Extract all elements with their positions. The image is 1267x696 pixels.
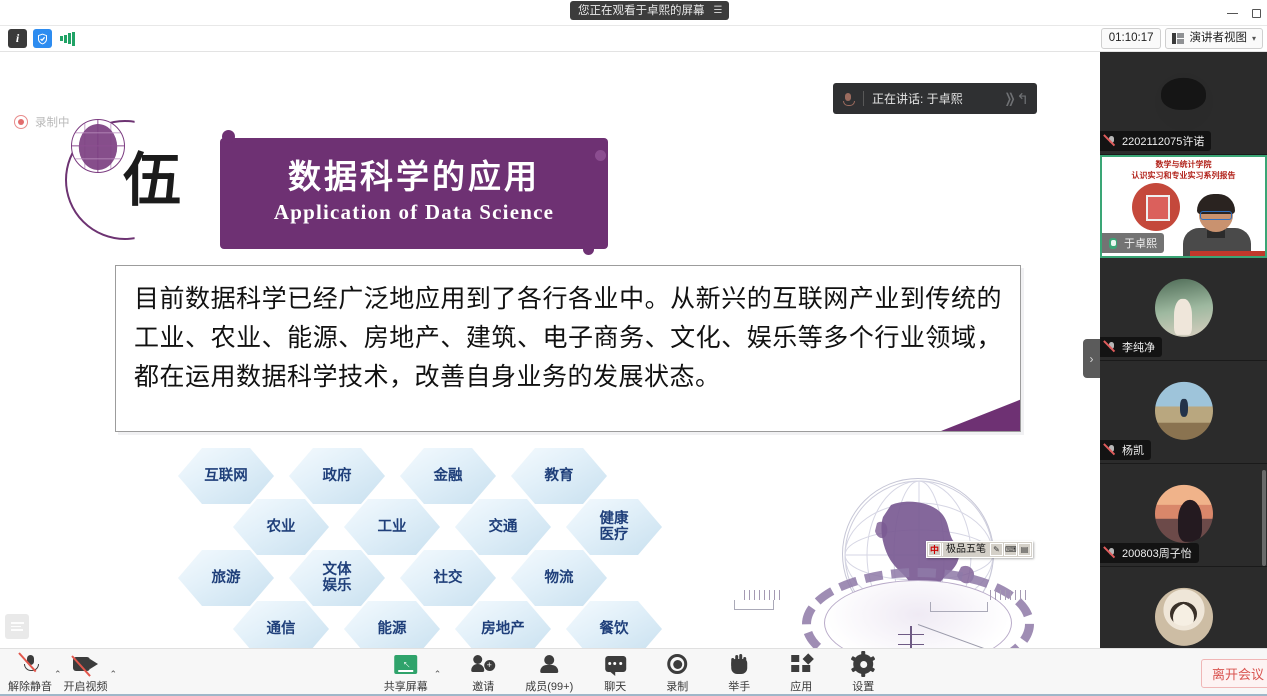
industry-hexagon: 餐饮	[566, 601, 662, 648]
ime-language-icon[interactable]: 中	[928, 543, 941, 556]
industry-hexagon: 金融	[400, 448, 496, 504]
video-slide-heading: 数学与统计学院认识实习和专业实习系列报告	[1102, 159, 1265, 181]
industry-hexagon: 通信	[233, 601, 329, 648]
plaque-nub-left	[222, 130, 235, 143]
industry-hexagon: 农业	[233, 499, 329, 555]
slide-chapter-mark: 伍	[55, 114, 235, 244]
mic-muted-icon	[1105, 547, 1117, 560]
speaker-webcam-figure	[1175, 198, 1259, 256]
participant-tile[interactable]: 数学与统计学院认识实习和专业实习系列报告于卓熙	[1100, 155, 1267, 258]
avatar	[1155, 485, 1213, 543]
screen-share-banner[interactable]: 您正在观看于卓熙的屏幕 ☰	[570, 1, 729, 20]
window-titlebar: 您正在观看于卓熙的屏幕 ☰	[0, 0, 1267, 26]
avatar	[1155, 73, 1213, 131]
slide-body-text: 目前数据科学已经广泛地应用到了各行各业中。从新兴的互联网产业到传统的工业、农业、…	[116, 266, 1020, 397]
participant-nameplate: 于卓熙	[1102, 233, 1164, 253]
meeting-statusbar: 01:10:17 演讲者视图 ▾	[0, 26, 1267, 52]
camera-off-icon	[73, 652, 98, 676]
globe-axis-stem	[910, 626, 912, 648]
participant-name: 杨凯	[1122, 442, 1144, 458]
participant-name: 李纯净	[1122, 339, 1155, 355]
industry-hexagon-grid: 互联网政府金融教育农业工业交通健康医疗旅游文体娱乐社交物流通信能源房地产餐饮建筑…	[178, 448, 688, 648]
avatar	[1155, 382, 1213, 440]
participant-tile[interactable]: 杨凯	[1100, 361, 1267, 464]
chat-label: 聊天	[604, 678, 626, 694]
university-seal-icon	[1132, 183, 1180, 231]
industry-hexagon: 能源	[344, 601, 440, 648]
meeting-timer: 01:10:17	[1101, 28, 1162, 49]
mic-on-icon	[1107, 237, 1119, 250]
industry-hexagon: 政府	[289, 448, 385, 504]
recording-indicator: 录制中	[14, 114, 70, 130]
participant-nameplate: 李纯净	[1100, 337, 1162, 357]
banner-arrow-icons[interactable]: ⟫ ↰	[1006, 90, 1029, 108]
meeting-toolbar: 解除静音 ⌃ 开启视频 ⌃ ↑ 共享屏幕 ⌃ +	[0, 648, 1267, 696]
industry-hexagon: 房地产	[455, 601, 551, 648]
participant-nameplate: 杨凯	[1100, 440, 1151, 460]
chapter-number: 伍	[123, 152, 181, 210]
zoom-meeting-window: 您正在观看于卓熙的屏幕 ☰ 01:10:17	[0, 0, 1267, 696]
slide-title-en: Application of Data Science	[220, 200, 608, 225]
toolbar-left-group: 解除静音 ⌃ 开启视频 ⌃	[8, 652, 117, 694]
apps-button[interactable]: 应用	[781, 652, 821, 694]
shared-screen-stage[interactable]: 伍 数据科学的应用 Application of Data Science 目前…	[0, 52, 1100, 648]
industry-hexagon: 物流	[511, 550, 607, 606]
settings-button[interactable]: 设置	[843, 652, 883, 694]
rail-scrollbar[interactable]	[1262, 470, 1266, 566]
share-screen-icon: ↑	[394, 652, 417, 676]
raise-hand-icon	[729, 652, 749, 676]
view-mode-label: 演讲者视图	[1189, 31, 1247, 46]
recording-label: 录制中	[35, 114, 70, 130]
industry-hexagon: 教育	[511, 448, 607, 504]
statusbar-right-group: 01:10:17 演讲者视图 ▾	[1101, 28, 1263, 49]
globe-callout-line	[918, 624, 1070, 626]
mute-button[interactable]: 解除静音	[8, 652, 52, 694]
active-speaker-banner[interactable]: 正在讲话: 于卓熙 ⟫ ↰	[833, 83, 1037, 114]
ime-floating-bar[interactable]: 中 极品五笔 ✎ ⌨ ▤	[926, 541, 1033, 558]
globe-illustration: 2311212123456 1021002230111	[762, 476, 1082, 648]
raise-hand-button[interactable]: 举手	[719, 652, 759, 694]
toolbar-center-group: ↑ 共享屏幕 ⌃ + 邀请 成员(99+)	[384, 652, 884, 694]
invite-button[interactable]: + 邀请	[463, 652, 503, 694]
slide-red-bar	[1190, 251, 1265, 256]
record-dot-icon	[14, 115, 28, 129]
participant-tile[interactable]: 2202112075许诺	[1100, 52, 1267, 155]
ime-keyboard-button[interactable]: ⌨	[1004, 543, 1017, 556]
participant-tile[interactable]: 200803周子怡	[1100, 464, 1267, 567]
participant-nameplate: 200803周子怡	[1100, 543, 1199, 563]
settings-gear-icon	[853, 652, 873, 676]
chat-icon	[605, 652, 626, 676]
raise-hand-label: 举手	[728, 678, 750, 694]
banner-divider	[863, 91, 864, 106]
sidebar-collapse-button[interactable]: ›	[1083, 339, 1100, 378]
shield-glyph	[37, 33, 48, 45]
participant-nameplate: 2202112075许诺	[1100, 131, 1211, 151]
industry-hexagon: 文体娱乐	[289, 550, 385, 606]
avatar	[1155, 279, 1213, 337]
view-mode-selector[interactable]: 演讲者视图 ▾	[1165, 28, 1263, 49]
invite-label: 邀请	[472, 678, 494, 694]
participant-tile[interactable]: 李纯净	[1100, 258, 1267, 361]
screen-share-banner-label: 您正在观看于卓熙的屏幕	[578, 2, 705, 20]
industry-hexagon: 交通	[455, 499, 551, 555]
plaque-nub-bottom	[583, 244, 594, 255]
industry-hexagon: 工业	[344, 499, 440, 555]
signal-bars-icon[interactable]	[58, 29, 77, 48]
video-options-caret[interactable]: ⌃	[110, 669, 118, 694]
slide-body-card: 目前数据科学已经广泛地应用到了各行各业中。从新兴的互联网产业到传统的工业、农业、…	[115, 265, 1021, 432]
industry-hexagon: 健康医疗	[566, 499, 662, 555]
shield-icon[interactable]	[33, 29, 52, 48]
globe-decoration-icon	[71, 119, 125, 173]
audio-options-caret[interactable]: ⌃	[54, 669, 62, 694]
share-screen-label: 共享屏幕	[384, 678, 428, 694]
participant-name: 2202112075许诺	[1122, 133, 1204, 149]
ime-name-label: 极品五笔	[942, 543, 989, 556]
reply-arrow-icon: ↰	[1016, 90, 1029, 108]
industry-hexagon: 旅游	[178, 550, 274, 606]
share-screen-button[interactable]: ↑ 共享屏幕	[384, 652, 428, 694]
leave-meeting-button[interactable]: 离开会议	[1201, 659, 1267, 688]
video-button[interactable]: 开启视频	[64, 652, 108, 694]
mic-muted-icon	[1105, 341, 1117, 354]
window-controls	[1227, 0, 1261, 26]
apps-icon	[791, 652, 812, 676]
mic-muted-icon	[1105, 135, 1117, 148]
info-icon[interactable]	[8, 29, 27, 48]
list-panel-button[interactable]	[5, 614, 29, 639]
record-label: 录制	[666, 678, 688, 694]
participant-name: 于卓熙	[1124, 235, 1157, 251]
participants-button[interactable]: 成员(99+)	[525, 652, 573, 694]
maximize-button[interactable]	[1252, 9, 1261, 18]
industry-hexagon: 互联网	[178, 448, 274, 504]
record-icon	[667, 652, 687, 676]
mic-muted-icon	[1105, 444, 1117, 457]
chevron-down-icon: ▾	[1252, 31, 1256, 46]
active-speaker-label: 正在讲话: 于卓熙	[872, 90, 963, 107]
slide-title-cn: 数据科学的应用	[220, 150, 608, 198]
video-button-label: 开启视频	[64, 678, 108, 694]
participants-label: 成员(99+)	[525, 678, 573, 694]
chat-button[interactable]: 聊天	[595, 652, 635, 694]
avatar	[1155, 588, 1213, 646]
status-icon-group	[8, 29, 77, 48]
mute-button-label: 解除静音	[8, 678, 52, 694]
presentation-slide: 伍 数据科学的应用 Application of Data Science 目前…	[0, 52, 1100, 648]
participant-name: 200803周子怡	[1122, 545, 1192, 561]
minimize-button[interactable]	[1227, 13, 1238, 14]
globe-hatch-left	[744, 590, 788, 600]
invite-icon: +	[472, 652, 495, 676]
share-options-caret[interactable]: ⌃	[434, 669, 442, 694]
microphone-icon	[841, 92, 855, 106]
industry-hexagon: 社交	[400, 550, 496, 606]
speaker-view-icon	[1172, 33, 1184, 44]
ime-pen-button[interactable]: ✎	[990, 543, 1003, 556]
list-icon	[11, 620, 24, 633]
hamburger-menu-icon[interactable]: ☰	[714, 2, 722, 20]
slide-title-plaque: 数据科学的应用 Application of Data Science	[220, 138, 608, 249]
mic-muted-icon	[21, 652, 39, 676]
apps-label: 应用	[790, 678, 812, 694]
record-button[interactable]: 录制	[657, 652, 697, 694]
globe-shade	[78, 124, 118, 170]
double-arrow-icon: ⟫	[1004, 90, 1016, 108]
ime-panel-button[interactable]: ▤	[1018, 543, 1031, 556]
globe-hatch-right	[990, 590, 1034, 600]
card-corner-accent	[936, 399, 1021, 432]
globe-bracket-right	[930, 602, 988, 612]
settings-label: 设置	[852, 678, 874, 694]
participants-icon	[538, 652, 560, 676]
participant-rail[interactable]: 2202112075许诺数学与统计学院认识实习和专业实习系列报告于卓熙李纯净杨凯…	[1100, 52, 1267, 648]
participant-tile[interactable]: ⌄	[1100, 567, 1267, 648]
globe-bracket-left	[734, 600, 774, 610]
